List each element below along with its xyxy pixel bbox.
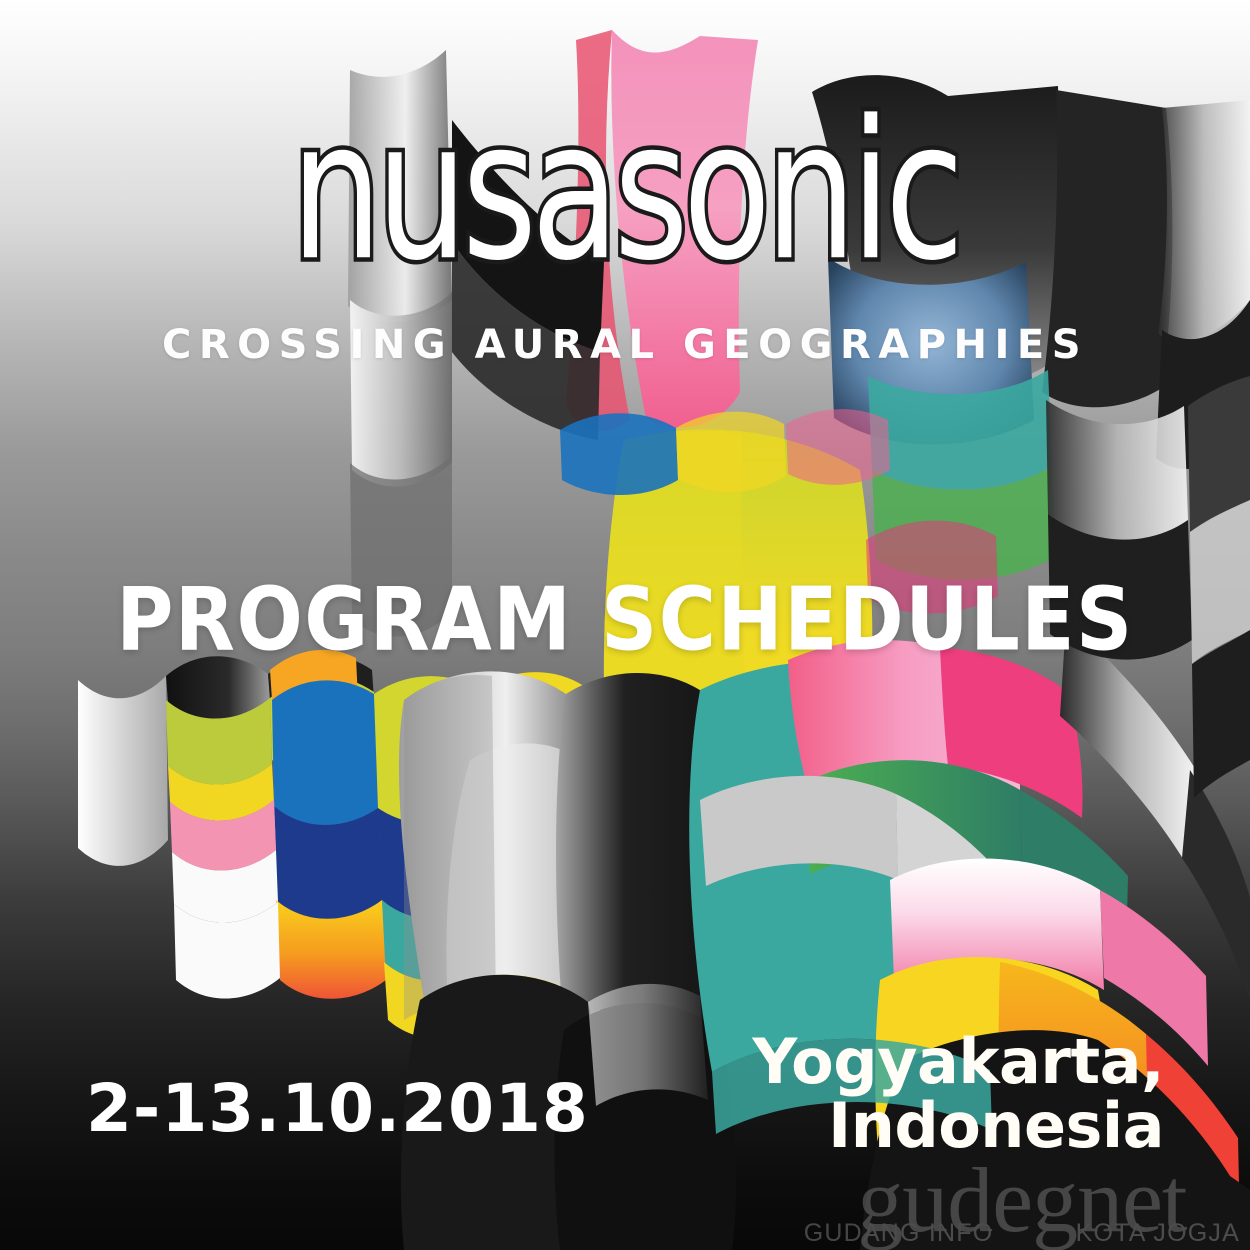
ribbon-dark-center-lower: [401, 975, 736, 1250]
abstract-ribbon-artwork: [0, 0, 1250, 1250]
ribbon-patchwork-right: [689, 620, 1250, 1250]
poster-canvas: nusasonic CROSSING AURAL GEOGRAPHIES PRO…: [0, 0, 1250, 1250]
ribbon-gray-upper-left: [348, 50, 452, 637]
